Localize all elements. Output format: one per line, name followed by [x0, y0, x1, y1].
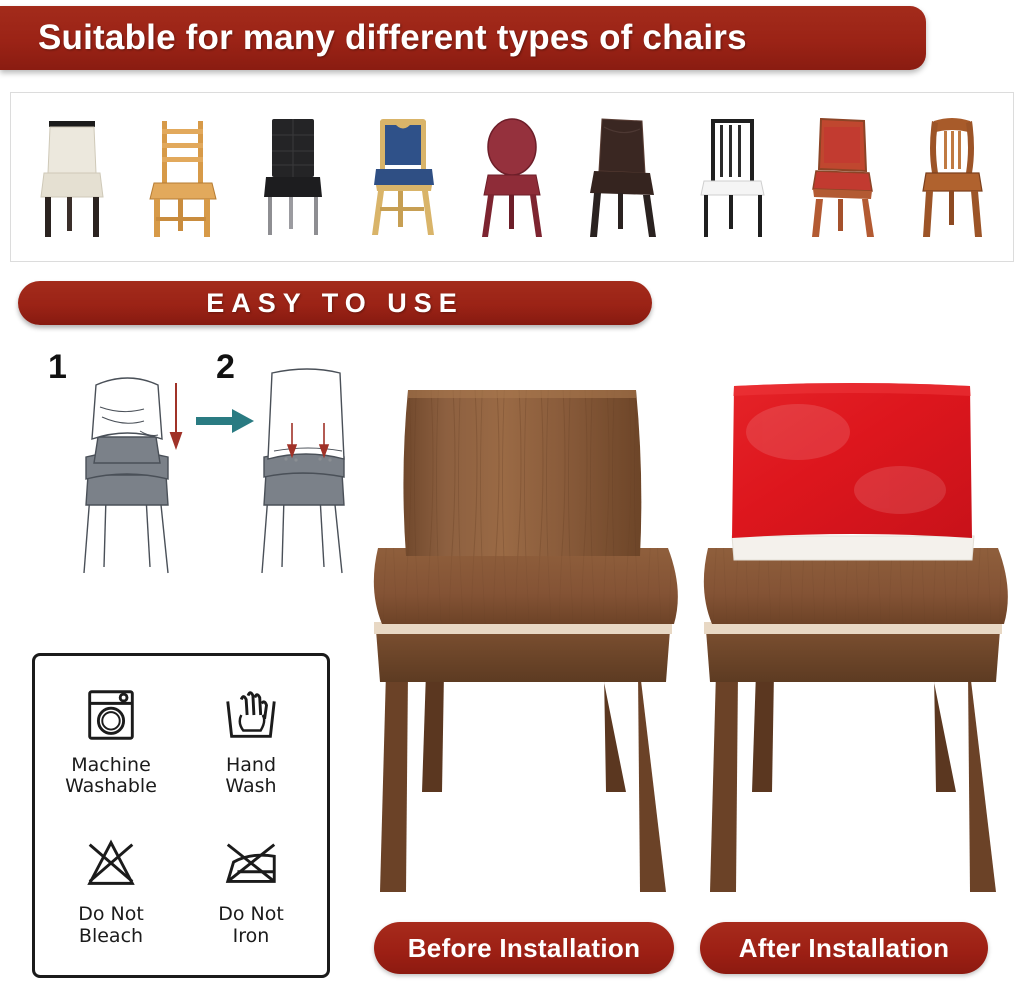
care-label-machine-washable: Machine Washable: [65, 755, 157, 798]
after-installation-text: After Installation: [739, 933, 950, 964]
care-label-do-not-bleach: Do Not Bleach: [78, 904, 144, 947]
page-title: Suitable for many different types of cha…: [38, 18, 747, 58]
do-not-bleach-icon: [80, 833, 142, 895]
after-installation-label: After Installation: [700, 922, 988, 974]
care-label-hand-wash: Hand Wash: [225, 755, 276, 798]
chair-thumb-7: [682, 107, 782, 247]
chair-thumb-5: [462, 107, 562, 247]
chair-thumb-6: [572, 107, 672, 247]
hand-wash-icon: [220, 684, 282, 746]
compatible-chair-types-panel: [10, 92, 1014, 262]
header-banner: Suitable for many different types of cha…: [0, 6, 926, 70]
care-item-do-not-bleach: Do Not Bleach: [78, 833, 144, 947]
care-item-machine-washable: Machine Washable: [65, 684, 157, 798]
step-number-2: 2: [216, 350, 235, 384]
chair-thumb-4: [352, 107, 452, 247]
washing-machine-icon: [80, 684, 142, 746]
chair-thumb-9: [902, 107, 1002, 247]
do-not-iron-icon: [220, 833, 282, 895]
easy-to-use-banner: EASY TO USE: [18, 281, 652, 325]
chair-after-installation: [688, 372, 1018, 920]
care-item-hand-wash: Hand Wash: [220, 684, 282, 798]
chair-thumb-3: [242, 107, 342, 247]
care-item-do-not-iron: Do Not Iron: [218, 833, 284, 947]
before-installation-text: Before Installation: [408, 933, 641, 964]
installation-steps: 1 2: [28, 345, 348, 580]
before-installation-label: Before Installation: [374, 922, 674, 974]
chair-before-installation: [358, 372, 688, 920]
chair-thumb-8: [792, 107, 892, 247]
chair-thumb-1: [22, 107, 122, 247]
care-instructions-panel: Machine Washable Hand Wash Do Not Bleach: [32, 653, 330, 978]
care-label-do-not-iron: Do Not Iron: [218, 904, 284, 947]
chair-thumb-2: [132, 107, 232, 247]
easy-to-use-title: EASY TO USE: [206, 288, 464, 319]
step-number-1: 1: [48, 350, 67, 384]
